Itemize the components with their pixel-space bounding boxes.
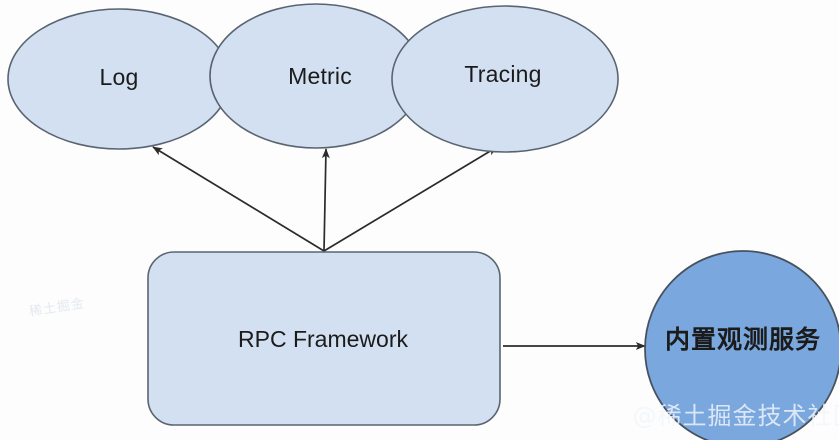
watermark-faint-left: 稀土掘金 [28,295,86,320]
diagram-svg: 稀土掘金 稀土掘金 稀土掘金 稀土掘金 稀土掘金 稀土掘金 Log Metric [0,0,839,440]
edge-rpc-to-log [153,147,324,251]
edge-rpc-to-tracing [324,147,497,251]
edge-rpc-to-metric [324,149,326,251]
metric-label: Metric [288,63,352,89]
node-rpc-framework[interactable]: RPC Framework [148,252,500,425]
rpc-framework-label: RPC Framework [238,326,408,352]
node-log[interactable]: Log [8,9,230,149]
diagram-canvas: 稀土掘金 稀土掘金 稀土掘金 稀土掘金 稀土掘金 稀土掘金 Log Metric [0,0,839,440]
watermark-main: @稀土掘金技术社区 [633,402,839,430]
tracing-label: Tracing [464,61,541,87]
node-metric[interactable]: Metric [210,4,422,148]
observability-service-label: 内置观测服务 [665,325,821,354]
log-label: Log [100,64,139,90]
node-tracing[interactable]: Tracing [392,6,618,152]
